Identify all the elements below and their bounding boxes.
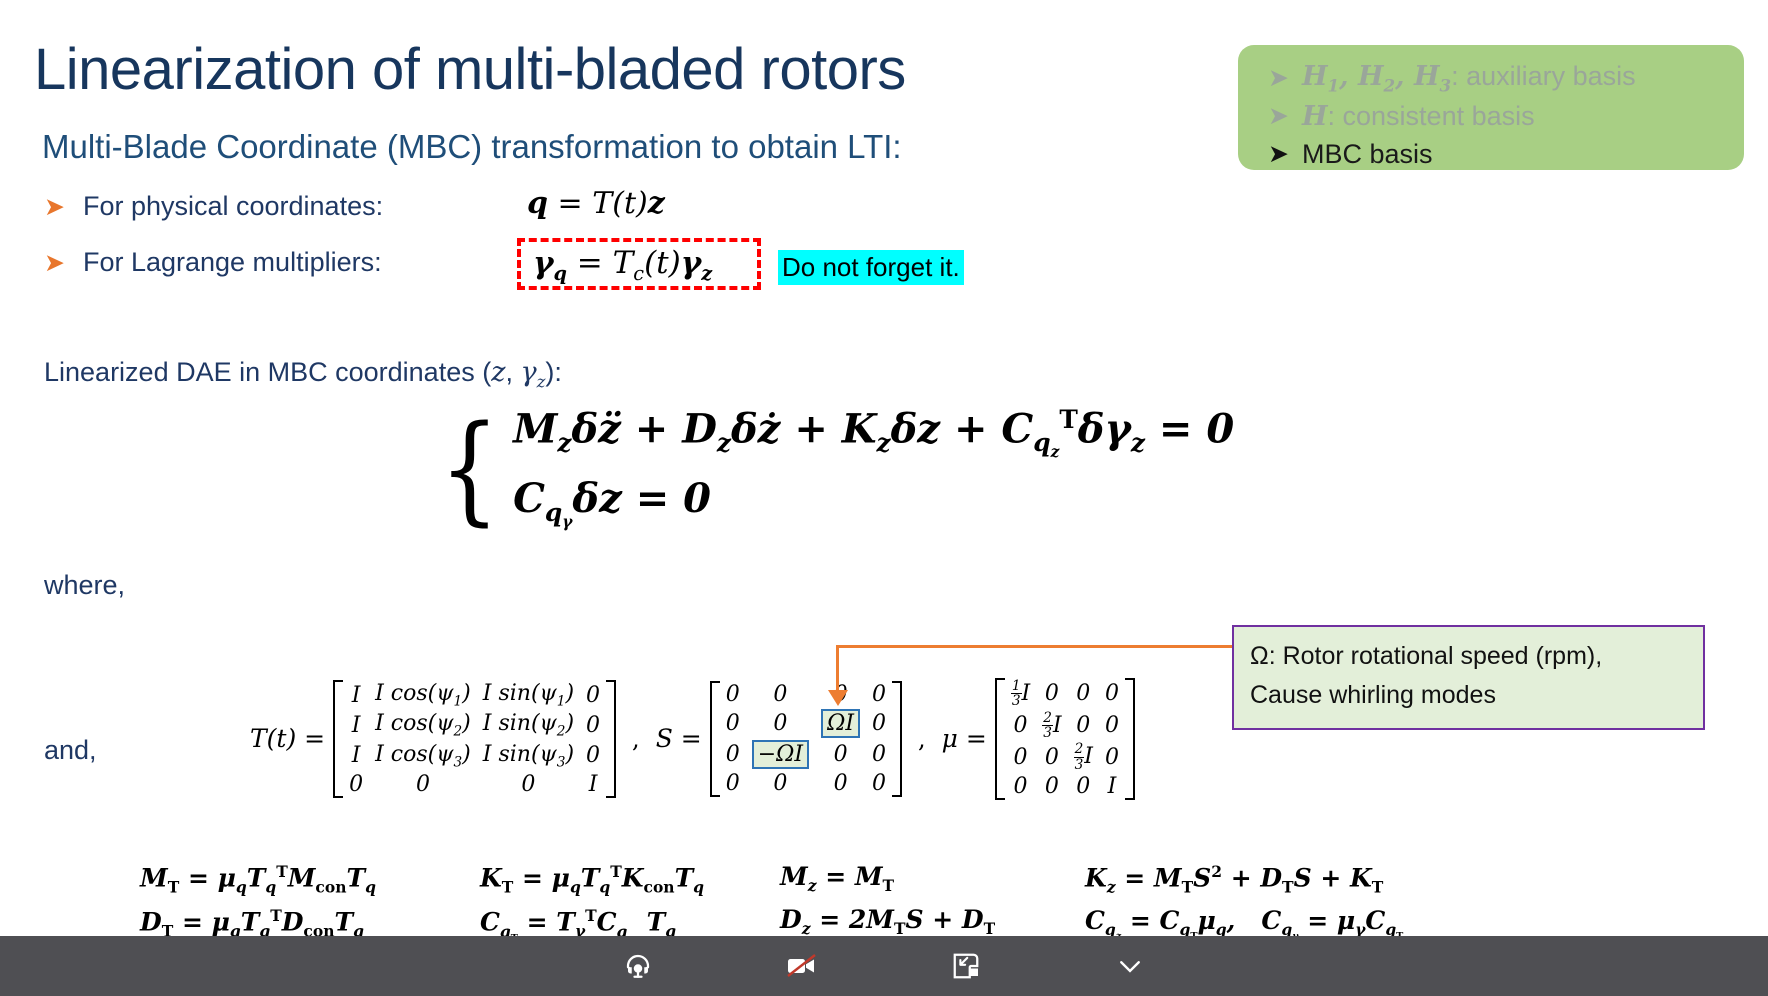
callout-leader-horizontal bbox=[836, 645, 1234, 648]
dae-equation-2: Cqγδz = 0 bbox=[513, 475, 1234, 531]
bullet-arrow-icon: ➤ bbox=[44, 192, 65, 222]
basis-item-mbc-label: MBC basis bbox=[1302, 139, 1433, 170]
equation-column-2: KT = μqTqTKconTq CqT = TγTCqconTq bbox=[480, 862, 780, 944]
omega-callout-line-1: Ω: Rotor rotational speed (rpm), bbox=[1250, 637, 1687, 676]
bullet-physical-coordinates-label: For physical coordinates: bbox=[83, 191, 383, 222]
matrix-row: 0023I0 bbox=[1005, 741, 1125, 773]
bullet-lagrange-multipliers-label: For Lagrange multipliers: bbox=[83, 247, 382, 278]
equation-column-1: MT = μqTqTMconTq DT = μqTqTDconTq bbox=[140, 862, 480, 944]
equation-gamma-transform: γq = Tc(t)γz bbox=[533, 245, 712, 285]
matrix-row: 13I000 bbox=[1005, 678, 1125, 710]
omega-callout-box: Ω: Rotor rotational speed (rpm), Cause w… bbox=[1232, 625, 1705, 730]
dae-system-equations: { Mzδz̈ + Dzδż + Kzδz + CqzTδγz = 0 Cqγ… bbox=[432, 405, 1234, 531]
matrix-S: 0000 00ΩI0 0−ΩI00 0000 bbox=[710, 681, 902, 797]
basis-summary-box: ➤ H1, H2, H3: auxiliary basis ➤ H: consi… bbox=[1238, 45, 1744, 170]
bullet-arrow-icon: ➤ bbox=[1268, 66, 1302, 91]
callout-arrow-icon bbox=[828, 690, 848, 706]
matrix-T-label: T(t) = bbox=[250, 724, 325, 753]
equation-column-3: Mz = MT Dz = 2MTS + DT bbox=[780, 862, 1085, 944]
presentation-slide: Linearization of multi-bladed rotors ➤ H… bbox=[0, 0, 1768, 996]
bullet-physical-coordinates: ➤ For physical coordinates: bbox=[44, 191, 383, 222]
matrix-row: II cos(ψ1)I sin(ψ1)0 bbox=[343, 680, 606, 710]
bullet-arrow-icon: ➤ bbox=[1268, 104, 1302, 129]
basis-item-auxiliary-label: H1, H2, H3: auxiliary basis bbox=[1302, 61, 1636, 95]
equation-q-transform: q = T(t)z bbox=[527, 186, 665, 221]
dae-equation-1: Mzδz̈ + Dzδż + Kzδz + CqzTδγz = 0 bbox=[513, 405, 1234, 461]
equation-column-4: Kz = MTS2 + DTS + KT Cqz = CqTμq, Cqγ = … bbox=[1085, 862, 1505, 944]
matrix-mu: 13I000 023I00 0023I0 000I bbox=[995, 678, 1135, 800]
matrix-row: 000I bbox=[1005, 773, 1125, 800]
matrix-S-label: S = bbox=[656, 724, 702, 753]
matrix-T: II cos(ψ1)I sin(ψ1)0 II cos(ψ2)I sin(ψ2)… bbox=[333, 680, 616, 798]
page-title: Linearization of multi-bladed rotors bbox=[34, 36, 906, 103]
curly-brace-icon: { bbox=[440, 418, 500, 518]
matrix-S-omega-negative: −ΩI bbox=[752, 740, 809, 769]
equation-KT: KT = μqTqTKconTq bbox=[480, 862, 780, 896]
basis-item-consistent-label: H: consistent basis bbox=[1302, 101, 1535, 132]
matrix-separator: , bbox=[918, 725, 926, 753]
share-screen-icon[interactable] bbox=[943, 943, 989, 989]
matrix-separator: , bbox=[632, 725, 640, 753]
dae-intro-text: Linearized DAE in MBC coordinates (z, γz… bbox=[44, 357, 562, 391]
basis-item-auxiliary: ➤ H1, H2, H3: auxiliary basis bbox=[1238, 59, 1744, 97]
dae-intro-prefix: Linearized DAE in MBC coordinates ( bbox=[44, 357, 491, 387]
omega-callout-line-2: Cause whirling modes bbox=[1250, 676, 1687, 715]
matrix-row: 0000 bbox=[720, 770, 892, 797]
basis-item-mbc: ➤ MBC basis bbox=[1238, 135, 1744, 173]
section-subheading: Multi-Blade Coordinate (MBC) transformat… bbox=[42, 128, 902, 166]
where-label: where, bbox=[44, 570, 125, 601]
headset-audio-icon[interactable] bbox=[615, 943, 661, 989]
do-not-forget-note: Do not forget it. bbox=[778, 250, 964, 285]
matrix-mu-label: μ = bbox=[942, 724, 987, 753]
chevron-down-icon[interactable] bbox=[1107, 943, 1153, 989]
bullet-arrow-icon: ➤ bbox=[44, 248, 65, 278]
matrix-row: 00ΩI0 bbox=[720, 708, 892, 739]
equation-MT: MT = μqTqTMconTq bbox=[140, 862, 480, 896]
equation-Mz: Mz = MT bbox=[780, 862, 1085, 895]
matrix-row: 0000 bbox=[720, 681, 892, 708]
matrix-row: 000I bbox=[343, 771, 606, 798]
meeting-toolbar bbox=[0, 936, 1768, 996]
matrix-row: 0−ΩI00 bbox=[720, 739, 892, 770]
dae-intro-suffix: ): bbox=[545, 357, 562, 387]
bullet-lagrange-multipliers: ➤ For Lagrange multipliers: bbox=[44, 247, 382, 278]
matrix-row: II cos(ψ3)I sin(ψ3)0 bbox=[343, 741, 606, 771]
matrix-row: II cos(ψ2)I sin(ψ2)0 bbox=[343, 710, 606, 740]
matrix-definitions-row: T(t) = II cos(ψ1)I sin(ψ1)0 II cos(ψ2)I … bbox=[250, 678, 1135, 800]
matrix-S-omega-positive: ΩI bbox=[821, 709, 860, 738]
equation-Kz: Kz = MTS2 + DTS + KT bbox=[1085, 862, 1505, 896]
equation-Dz: Dz = 2MTS + DT bbox=[780, 905, 1085, 938]
matrix-row: 023I00 bbox=[1005, 710, 1125, 742]
basis-item-consistent: ➤ H: consistent basis bbox=[1238, 97, 1744, 135]
bottom-equation-grid: MT = μqTqTMconTq DT = μqTqTDconTq KT = μ… bbox=[140, 862, 1505, 944]
bullet-arrow-icon: ➤ bbox=[1268, 142, 1302, 167]
camera-off-icon[interactable] bbox=[779, 943, 825, 989]
and-label: and, bbox=[44, 735, 97, 766]
